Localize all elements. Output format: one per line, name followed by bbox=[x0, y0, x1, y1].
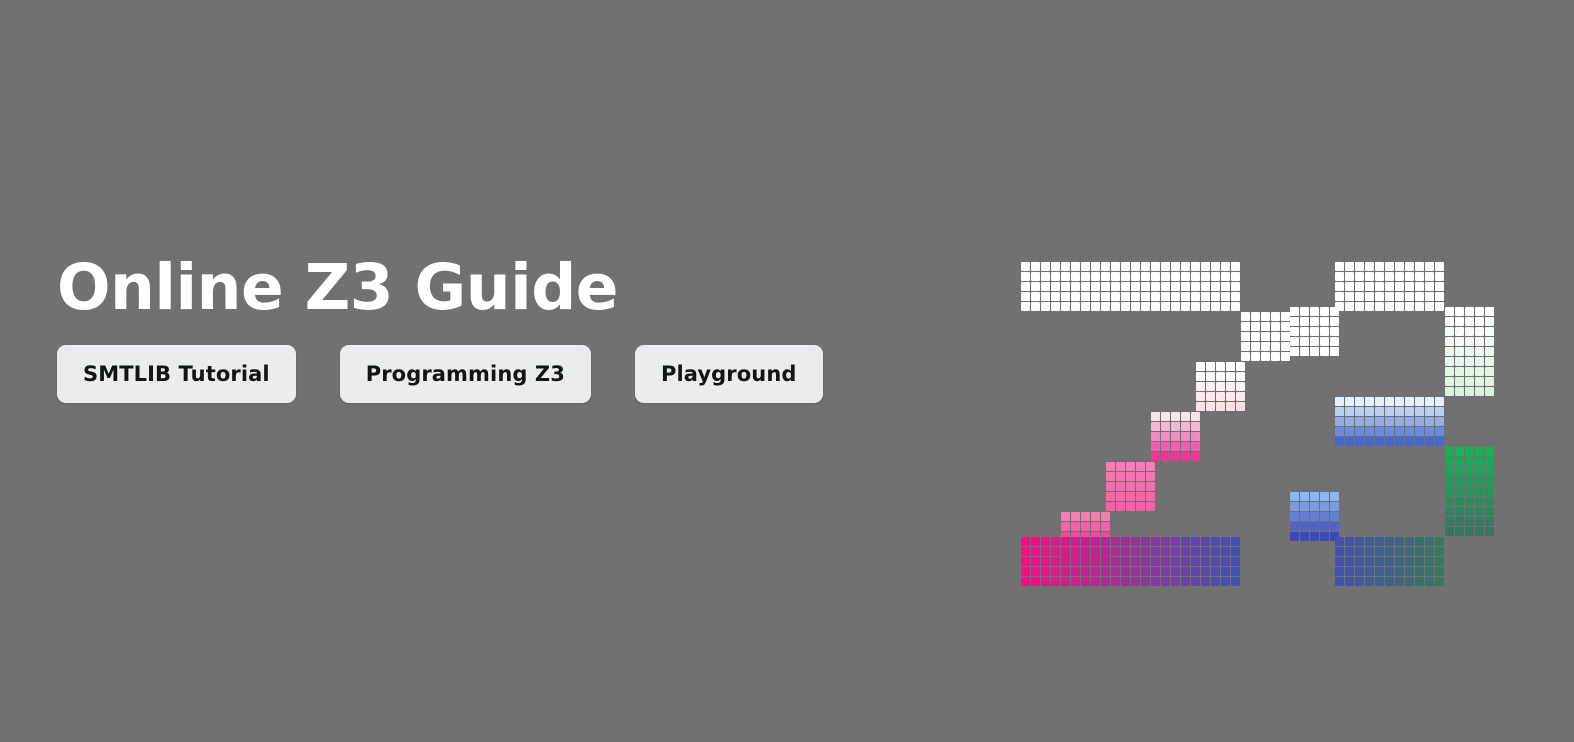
logo-pixel-cell bbox=[1231, 282, 1240, 291]
logo-pixel-cell bbox=[1435, 272, 1444, 281]
logo-pixel-cell bbox=[1236, 362, 1245, 371]
logo-pixel-cell bbox=[1445, 317, 1454, 326]
logo-pixel-cell bbox=[1345, 397, 1354, 406]
logo-pixel-cell bbox=[1335, 537, 1344, 546]
logo-pixel-cell bbox=[1415, 557, 1424, 566]
logo-pixel-cell bbox=[1201, 567, 1210, 576]
playground-button[interactable]: Playground bbox=[635, 345, 823, 403]
logo-pixel-cell bbox=[1281, 322, 1290, 331]
logo-pixel-cell bbox=[1071, 302, 1080, 311]
logo-pixel-cell bbox=[1375, 577, 1384, 586]
logo-pixel-cell bbox=[1345, 292, 1354, 301]
logo-pixel-cell bbox=[1281, 312, 1290, 321]
logo-pixel-cell bbox=[1405, 417, 1414, 426]
logo-pixel-cell bbox=[1415, 292, 1424, 301]
logo-pixel-cell bbox=[1111, 577, 1120, 586]
logo-pixel-cell bbox=[1425, 397, 1434, 406]
logo-pixel-cell bbox=[1226, 392, 1235, 401]
logo-pixel-cell bbox=[1136, 472, 1145, 481]
logo-pixel-cell bbox=[1231, 537, 1240, 546]
logo-pixel-cell bbox=[1425, 427, 1434, 436]
logo-pixel-cell bbox=[1290, 337, 1299, 346]
logo-pixel-cell bbox=[1031, 537, 1040, 546]
logo-pixel-cell bbox=[1310, 327, 1319, 336]
logo-pixel-cell bbox=[1485, 527, 1494, 536]
logo-pixel-cell bbox=[1375, 282, 1384, 291]
logo-pixel-cell bbox=[1425, 557, 1434, 566]
logo-pixel-cell bbox=[1445, 457, 1454, 466]
logo-pixel-cell bbox=[1395, 537, 1404, 546]
logo-pixel-cell bbox=[1081, 577, 1090, 586]
logo-pixel-cell bbox=[1101, 262, 1110, 271]
logo-pixel-cell bbox=[1475, 347, 1484, 356]
logo-pixel-cell bbox=[1425, 567, 1434, 576]
logo-pixel-cell bbox=[1091, 567, 1100, 576]
logo-pixel-block bbox=[1241, 312, 1290, 361]
logo-pixel-cell bbox=[1405, 537, 1414, 546]
logo-pixel-cell bbox=[1375, 262, 1384, 271]
logo-pixel-cell bbox=[1345, 567, 1354, 576]
logo-pixel-cell bbox=[1445, 387, 1454, 396]
logo-pixel-cell bbox=[1081, 557, 1090, 566]
logo-pixel-cell bbox=[1385, 417, 1394, 426]
logo-pixel-cell bbox=[1041, 272, 1050, 281]
logo-pixel-cell bbox=[1330, 492, 1339, 501]
logo-pixel-cell bbox=[1261, 322, 1270, 331]
logo-pixel-cell bbox=[1345, 272, 1354, 281]
logo-pixel-cell bbox=[1465, 327, 1474, 336]
logo-pixel-cell bbox=[1191, 452, 1200, 461]
logo-pixel-cell bbox=[1121, 282, 1130, 291]
logo-pixel-block bbox=[1335, 537, 1444, 586]
logo-pixel-cell bbox=[1206, 402, 1215, 411]
logo-pixel-cell bbox=[1151, 282, 1160, 291]
logo-pixel-cell bbox=[1131, 567, 1140, 576]
logo-pixel-cell bbox=[1365, 282, 1374, 291]
logo-pixel-cell bbox=[1335, 282, 1344, 291]
logo-pixel-cell bbox=[1216, 362, 1225, 371]
logo-pixel-cell bbox=[1091, 557, 1100, 566]
logo-pixel-cell bbox=[1211, 282, 1220, 291]
logo-pixel-cell bbox=[1415, 272, 1424, 281]
logo-pixel-cell bbox=[1091, 537, 1100, 546]
logo-pixel-cell bbox=[1415, 577, 1424, 586]
logo-pixel-cell bbox=[1191, 567, 1200, 576]
logo-pixel-cell bbox=[1405, 302, 1414, 311]
logo-pixel-cell bbox=[1141, 272, 1150, 281]
logo-pixel-cell bbox=[1136, 482, 1145, 491]
logo-pixel-cell bbox=[1191, 577, 1200, 586]
logo-pixel-cell bbox=[1415, 417, 1424, 426]
logo-pixel-cell bbox=[1231, 577, 1240, 586]
logo-pixel-cell bbox=[1330, 307, 1339, 316]
logo-pixel-cell bbox=[1375, 407, 1384, 416]
logo-pixel-cell bbox=[1116, 502, 1125, 511]
logo-pixel-cell bbox=[1101, 557, 1110, 566]
logo-pixel-cell bbox=[1021, 302, 1030, 311]
logo-pixel-cell bbox=[1435, 397, 1444, 406]
logo-pixel-cell bbox=[1061, 537, 1070, 546]
logo-pixel-cell bbox=[1171, 282, 1180, 291]
logo-pixel-cell bbox=[1261, 342, 1270, 351]
logo-pixel-cell bbox=[1221, 567, 1230, 576]
logo-pixel-cell bbox=[1161, 262, 1170, 271]
logo-pixel-cell bbox=[1191, 432, 1200, 441]
logo-pixel-cell bbox=[1131, 262, 1140, 271]
logo-pixel-cell bbox=[1375, 397, 1384, 406]
logo-pixel-cell bbox=[1031, 272, 1040, 281]
logo-pixel-cell bbox=[1161, 292, 1170, 301]
logo-pixel-cell bbox=[1365, 537, 1374, 546]
logo-pixel-cell bbox=[1485, 317, 1494, 326]
logo-pixel-cell bbox=[1425, 262, 1434, 271]
logo-pixel-cell bbox=[1365, 272, 1374, 281]
logo-pixel-cell bbox=[1335, 407, 1344, 416]
logo-pixel-cell bbox=[1221, 577, 1230, 586]
logo-pixel-cell bbox=[1405, 282, 1414, 291]
logo-pixel-cell bbox=[1425, 272, 1434, 281]
logo-pixel-cell bbox=[1211, 302, 1220, 311]
logo-pixel-cell bbox=[1355, 537, 1364, 546]
logo-pixel-cell bbox=[1131, 282, 1140, 291]
logo-pixel-cell bbox=[1455, 367, 1464, 376]
logo-pixel-cell bbox=[1271, 322, 1280, 331]
logo-pixel-cell bbox=[1320, 502, 1329, 511]
logo-pixel-cell bbox=[1151, 547, 1160, 556]
logo-pixel-cell bbox=[1236, 402, 1245, 411]
logo-pixel-cell bbox=[1241, 312, 1250, 321]
logo-pixel-cell bbox=[1171, 537, 1180, 546]
logo-pixel-cell bbox=[1241, 322, 1250, 331]
logo-pixel-cell bbox=[1121, 302, 1130, 311]
logo-pixel-cell bbox=[1330, 512, 1339, 521]
logo-pixel-cell bbox=[1031, 557, 1040, 566]
logo-pixel-cell bbox=[1211, 557, 1220, 566]
programming-z3-button[interactable]: Programming Z3 bbox=[340, 345, 591, 403]
logo-pixel-cell bbox=[1121, 547, 1130, 556]
logo-pixel-cell bbox=[1365, 547, 1374, 556]
logo-pixel-cell bbox=[1151, 452, 1160, 461]
logo-pixel-cell bbox=[1221, 537, 1230, 546]
logo-pixel-cell bbox=[1395, 302, 1404, 311]
logo-pixel-cell bbox=[1395, 567, 1404, 576]
logo-pixel-cell bbox=[1405, 427, 1414, 436]
logo-pixel-cell bbox=[1181, 282, 1190, 291]
logo-pixel-cell bbox=[1475, 387, 1484, 396]
logo-pixel-cell bbox=[1181, 537, 1190, 546]
logo-pixel-cell bbox=[1290, 307, 1299, 316]
logo-pixel-cell bbox=[1345, 547, 1354, 556]
logo-pixel-cell bbox=[1151, 577, 1160, 586]
logo-pixel-cell bbox=[1231, 302, 1240, 311]
logo-pixel-cell bbox=[1061, 557, 1070, 566]
logo-pixel-cell bbox=[1031, 292, 1040, 301]
page-title: Online Z3 Guide bbox=[57, 255, 957, 321]
logo-pixel-cell bbox=[1146, 502, 1155, 511]
logo-pixel-cell bbox=[1365, 417, 1374, 426]
logo-pixel-cell bbox=[1251, 322, 1260, 331]
logo-pixel-cell bbox=[1141, 282, 1150, 291]
logo-pixel-cell bbox=[1071, 557, 1080, 566]
logo-pixel-cell bbox=[1330, 502, 1339, 511]
logo-pixel-cell bbox=[1385, 282, 1394, 291]
logo-pixel-cell bbox=[1041, 292, 1050, 301]
logo-pixel-cell bbox=[1031, 302, 1040, 311]
logo-pixel-cell bbox=[1435, 557, 1444, 566]
logo-pixel-cell bbox=[1226, 372, 1235, 381]
logo-pixel-cell bbox=[1345, 417, 1354, 426]
logo-pixel-cell bbox=[1131, 557, 1140, 566]
logo-pixel-cell bbox=[1485, 497, 1494, 506]
logo-pixel-cell bbox=[1355, 417, 1364, 426]
logo-pixel-cell bbox=[1425, 417, 1434, 426]
logo-pixel-cell bbox=[1031, 262, 1040, 271]
logo-pixel-cell bbox=[1300, 337, 1309, 346]
logo-pixel-cell bbox=[1111, 262, 1120, 271]
logo-pixel-cell bbox=[1445, 307, 1454, 316]
logo-pixel-cell bbox=[1290, 327, 1299, 336]
logo-pixel-cell bbox=[1101, 547, 1110, 556]
logo-pixel-cell bbox=[1455, 497, 1464, 506]
logo-pixel-cell bbox=[1375, 272, 1384, 281]
logo-pixel-cell bbox=[1355, 577, 1364, 586]
logo-pixel-cell bbox=[1385, 557, 1394, 566]
logo-pixel-cell bbox=[1211, 577, 1220, 586]
logo-pixel-cell bbox=[1091, 302, 1100, 311]
logo-pixel-cell bbox=[1281, 352, 1290, 361]
logo-pixel-cell bbox=[1051, 547, 1060, 556]
logo-pixel-cell bbox=[1365, 397, 1374, 406]
logo-pixel-cell bbox=[1475, 377, 1484, 386]
smtlib-tutorial-button[interactable]: SMTLIB Tutorial bbox=[57, 345, 296, 403]
logo-pixel-cell bbox=[1320, 307, 1329, 316]
logo-pixel-cell bbox=[1051, 577, 1060, 586]
logo-pixel-cell bbox=[1310, 532, 1319, 541]
logo-pixel-cell bbox=[1281, 342, 1290, 351]
logo-pixel-cell bbox=[1405, 272, 1414, 281]
logo-pixel-cell bbox=[1300, 317, 1309, 326]
logo-pixel-cell bbox=[1271, 352, 1280, 361]
logo-pixel-cell bbox=[1365, 262, 1374, 271]
logo-pixel-cell bbox=[1485, 467, 1494, 476]
logo-pixel-cell bbox=[1041, 302, 1050, 311]
logo-pixel-cell bbox=[1290, 347, 1299, 356]
logo-pixel-cell bbox=[1445, 377, 1454, 386]
logo-pixel-cell bbox=[1161, 412, 1170, 421]
logo-pixel-cell bbox=[1061, 262, 1070, 271]
logo-pixel-cell bbox=[1071, 577, 1080, 586]
logo-pixel-cell bbox=[1141, 557, 1150, 566]
logo-pixel-cell bbox=[1111, 547, 1120, 556]
logo-pixel-cell bbox=[1425, 302, 1434, 311]
logo-pixel-cell bbox=[1161, 537, 1170, 546]
logo-pixel-cell bbox=[1171, 432, 1180, 441]
hero-section: Online Z3 Guide SMTLIB Tutorial Programm… bbox=[57, 255, 957, 403]
logo-pixel-cell bbox=[1081, 547, 1090, 556]
logo-pixel-cell bbox=[1455, 317, 1464, 326]
logo-pixel-cell bbox=[1345, 302, 1354, 311]
logo-pixel-cell bbox=[1211, 537, 1220, 546]
logo-pixel-cell bbox=[1221, 302, 1230, 311]
logo-pixel-cell bbox=[1161, 272, 1170, 281]
logo-pixel-cell bbox=[1485, 367, 1494, 376]
logo-pixel-cell bbox=[1236, 392, 1245, 401]
logo-pixel-cell bbox=[1365, 557, 1374, 566]
logo-pixel-cell bbox=[1375, 537, 1384, 546]
logo-pixel-cell bbox=[1111, 292, 1120, 301]
logo-pixel-cell bbox=[1485, 387, 1494, 396]
logo-pixel-cell bbox=[1151, 412, 1160, 421]
logo-pixel-cell bbox=[1475, 457, 1484, 466]
logo-pixel-cell bbox=[1171, 547, 1180, 556]
logo-pixel-cell bbox=[1335, 397, 1344, 406]
logo-pixel-cell bbox=[1181, 452, 1190, 461]
logo-pixel-cell bbox=[1310, 502, 1319, 511]
logo-pixel-cell bbox=[1465, 377, 1474, 386]
logo-pixel-cell bbox=[1271, 332, 1280, 341]
logo-pixel-cell bbox=[1465, 477, 1474, 486]
logo-pixel-cell bbox=[1191, 412, 1200, 421]
logo-pixel-cell bbox=[1310, 307, 1319, 316]
logo-pixel-cell bbox=[1320, 327, 1329, 336]
logo-pixel-cell bbox=[1445, 527, 1454, 536]
logo-pixel-cell bbox=[1320, 317, 1329, 326]
logo-pixel-cell bbox=[1465, 307, 1474, 316]
logo-pixel-cell bbox=[1300, 522, 1309, 531]
logo-pixel-cell bbox=[1101, 512, 1110, 521]
logo-pixel-cell bbox=[1071, 547, 1080, 556]
logo-pixel-cell bbox=[1355, 262, 1364, 271]
logo-pixel-cell bbox=[1465, 527, 1474, 536]
logo-pixel-cell bbox=[1485, 477, 1494, 486]
logo-pixel-cell bbox=[1320, 337, 1329, 346]
logo-pixel-cell bbox=[1435, 577, 1444, 586]
logo-pixel-cell bbox=[1081, 282, 1090, 291]
logo-pixel-cell bbox=[1415, 437, 1424, 446]
logo-pixel-cell bbox=[1061, 512, 1070, 521]
logo-pixel-cell bbox=[1106, 502, 1115, 511]
logo-pixel-cell bbox=[1231, 272, 1240, 281]
logo-pixel-cell bbox=[1236, 372, 1245, 381]
logo-pixel-cell bbox=[1231, 567, 1240, 576]
logo-pixel-cell bbox=[1101, 577, 1110, 586]
logo-pixel-cell bbox=[1061, 272, 1070, 281]
logo-pixel-cell bbox=[1395, 417, 1404, 426]
logo-pixel-cell bbox=[1101, 302, 1110, 311]
logo-pixel-cell bbox=[1161, 547, 1170, 556]
logo-pixel-cell bbox=[1041, 262, 1050, 271]
logo-pixel-cell bbox=[1151, 272, 1160, 281]
logo-pixel-cell bbox=[1375, 567, 1384, 576]
logo-pixel-cell bbox=[1465, 317, 1474, 326]
logo-pixel-cell bbox=[1445, 327, 1454, 336]
logo-pixel-cell bbox=[1126, 472, 1135, 481]
logo-pixel-cell bbox=[1211, 292, 1220, 301]
logo-pixel-cell bbox=[1415, 282, 1424, 291]
logo-pixel-cell bbox=[1335, 547, 1344, 556]
logo-pixel-cell bbox=[1211, 547, 1220, 556]
logo-pixel-cell bbox=[1345, 282, 1354, 291]
logo-pixel-cell bbox=[1121, 537, 1130, 546]
logo-pixel-cell bbox=[1335, 292, 1344, 301]
logo-pixel-cell bbox=[1126, 492, 1135, 501]
logo-pixel-cell bbox=[1111, 272, 1120, 281]
logo-pixel-cell bbox=[1365, 567, 1374, 576]
logo-pixel-cell bbox=[1116, 472, 1125, 481]
logo-pixel-cell bbox=[1051, 567, 1060, 576]
logo-pixel-cell bbox=[1081, 537, 1090, 546]
logo-pixel-cell bbox=[1106, 462, 1115, 471]
logo-pixel-cell bbox=[1141, 302, 1150, 311]
logo-pixel-cell bbox=[1201, 557, 1210, 566]
logo-pixel-cell bbox=[1345, 437, 1354, 446]
logo-pixel-cell bbox=[1395, 292, 1404, 301]
logo-pixel-cell bbox=[1081, 292, 1090, 301]
logo-pixel-cell bbox=[1161, 452, 1170, 461]
logo-pixel-cell bbox=[1201, 272, 1210, 281]
logo-pixel-cell bbox=[1061, 302, 1070, 311]
logo-pixel-cell bbox=[1071, 522, 1080, 531]
logo-pixel-cell bbox=[1171, 577, 1180, 586]
logo-pixel-cell bbox=[1226, 362, 1235, 371]
logo-pixel-cell bbox=[1061, 282, 1070, 291]
logo-pixel-cell bbox=[1445, 497, 1454, 506]
logo-pixel-cell bbox=[1121, 262, 1130, 271]
logo-pixel-cell bbox=[1310, 522, 1319, 531]
logo-pixel-cell bbox=[1385, 407, 1394, 416]
logo-pixel-cell bbox=[1141, 547, 1150, 556]
logo-pixel-cell bbox=[1171, 442, 1180, 451]
logo-pixel-cell bbox=[1405, 397, 1414, 406]
logo-pixel-cell bbox=[1191, 557, 1200, 566]
logo-pixel-cell bbox=[1435, 407, 1444, 416]
logo-pixel-cell bbox=[1335, 577, 1344, 586]
logo-pixel-cell bbox=[1310, 317, 1319, 326]
logo-pixel-cell bbox=[1021, 557, 1030, 566]
logo-pixel-cell bbox=[1101, 537, 1110, 546]
logo-pixel-cell bbox=[1415, 407, 1424, 416]
logo-pixel-cell bbox=[1201, 302, 1210, 311]
logo-pixel-cell bbox=[1320, 512, 1329, 521]
logo-pixel-cell bbox=[1101, 272, 1110, 281]
logo-pixel-cell bbox=[1111, 557, 1120, 566]
logo-pixel-cell bbox=[1485, 337, 1494, 346]
logo-pixel-cell bbox=[1455, 447, 1464, 456]
logo-pixel-cell bbox=[1290, 317, 1299, 326]
logo-pixel-cell bbox=[1395, 577, 1404, 586]
logo-pixel-cell bbox=[1475, 497, 1484, 506]
logo-pixel-cell bbox=[1051, 282, 1060, 291]
logo-pixel-cell bbox=[1455, 457, 1464, 466]
logo-pixel-cell bbox=[1375, 292, 1384, 301]
logo-pixel-cell bbox=[1465, 447, 1474, 456]
logo-pixel-cell bbox=[1146, 492, 1155, 501]
logo-pixel-cell bbox=[1071, 282, 1080, 291]
logo-pixel-cell bbox=[1415, 302, 1424, 311]
logo-pixel-cell bbox=[1435, 567, 1444, 576]
logo-pixel-cell bbox=[1335, 272, 1344, 281]
logo-pixel-cell bbox=[1051, 557, 1060, 566]
logo-pixel-cell bbox=[1290, 532, 1299, 541]
logo-pixel-cell bbox=[1385, 262, 1394, 271]
logo-pixel-cell bbox=[1181, 302, 1190, 311]
logo-pixel-cell bbox=[1021, 577, 1030, 586]
logo-pixel-cell bbox=[1405, 577, 1414, 586]
logo-pixel-cell bbox=[1201, 282, 1210, 291]
logo-pixel-cell bbox=[1021, 282, 1030, 291]
logo-pixel-cell bbox=[1335, 557, 1344, 566]
logo-pixel-cell bbox=[1181, 292, 1190, 301]
